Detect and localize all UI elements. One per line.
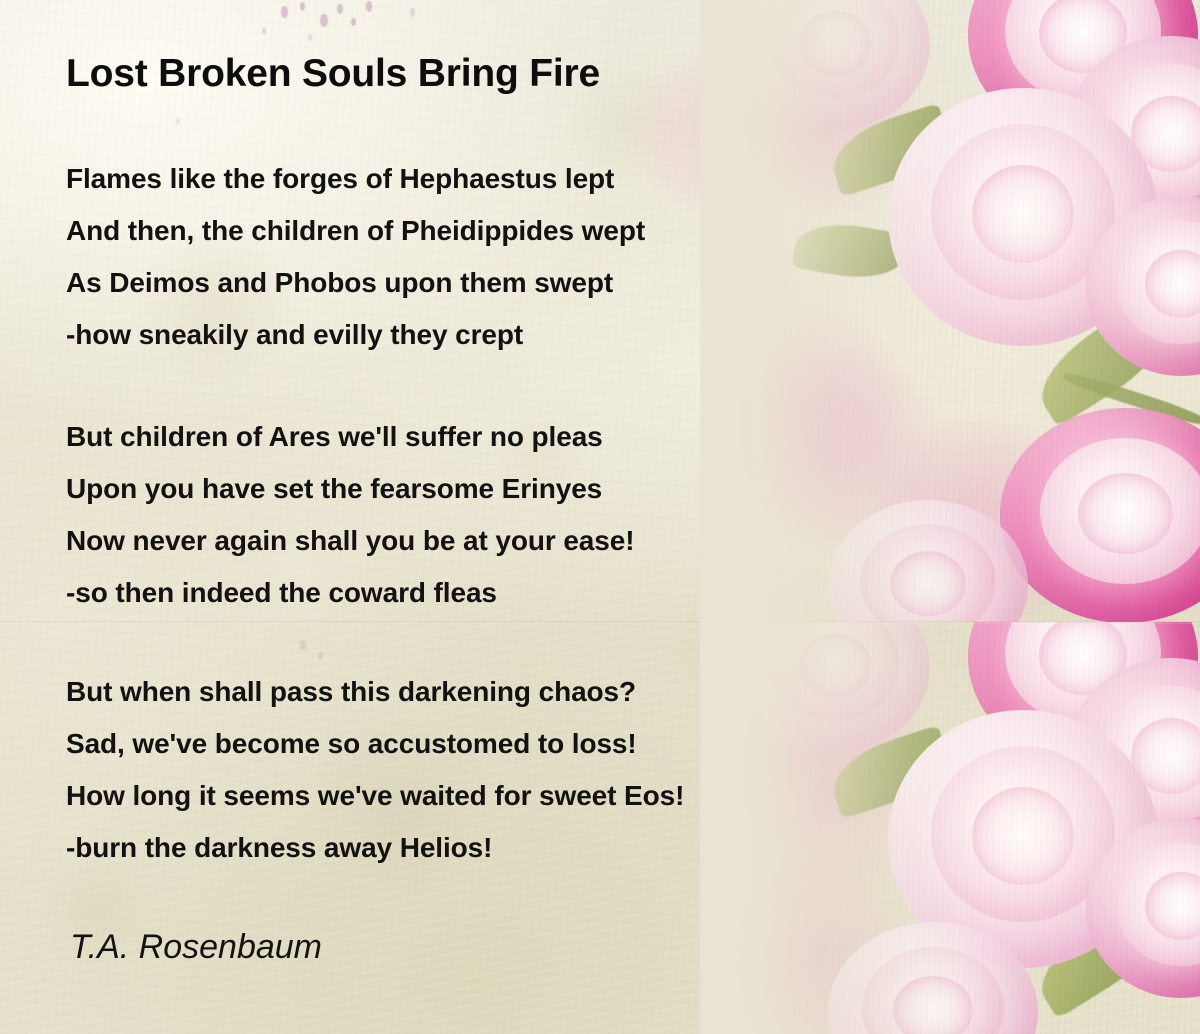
poem-line: Now never again shall you be at your eas…: [66, 525, 634, 557]
poem-image: Lost Broken Souls Bring Fire Flames like…: [0, 0, 1200, 1034]
poem-line: -how sneakily and evilly they crept: [66, 319, 523, 351]
texture-seam: [0, 621, 1200, 624]
poem-line: -so then indeed the coward fleas: [66, 577, 497, 609]
poem-line: How long it seems we've waited for sweet…: [66, 780, 684, 812]
poem-line: As Deimos and Phobos upon them swept: [66, 267, 613, 299]
poem-line: Sad, we've become so accustomed to loss!: [66, 728, 637, 760]
rose-photo-upper: [700, 0, 1200, 622]
poem-line: -burn the darkness away Helios!: [66, 832, 492, 864]
poem-line: But when shall pass this darkening chaos…: [66, 676, 636, 708]
poem-line: Flames like the forges of Hephaestus lep…: [66, 163, 614, 195]
poem-line: But children of Ares we'll suffer no ple…: [66, 421, 603, 453]
poem-line: And then, the children of Pheidippides w…: [66, 215, 645, 247]
rose-photo-lower: [700, 622, 1200, 1034]
page-title: Lost Broken Souls Bring Fire: [66, 52, 600, 96]
poem-line: Upon you have set the fearsome Erinyes: [66, 473, 602, 505]
author-signature: T.A. Rosenbaum: [70, 928, 322, 967]
